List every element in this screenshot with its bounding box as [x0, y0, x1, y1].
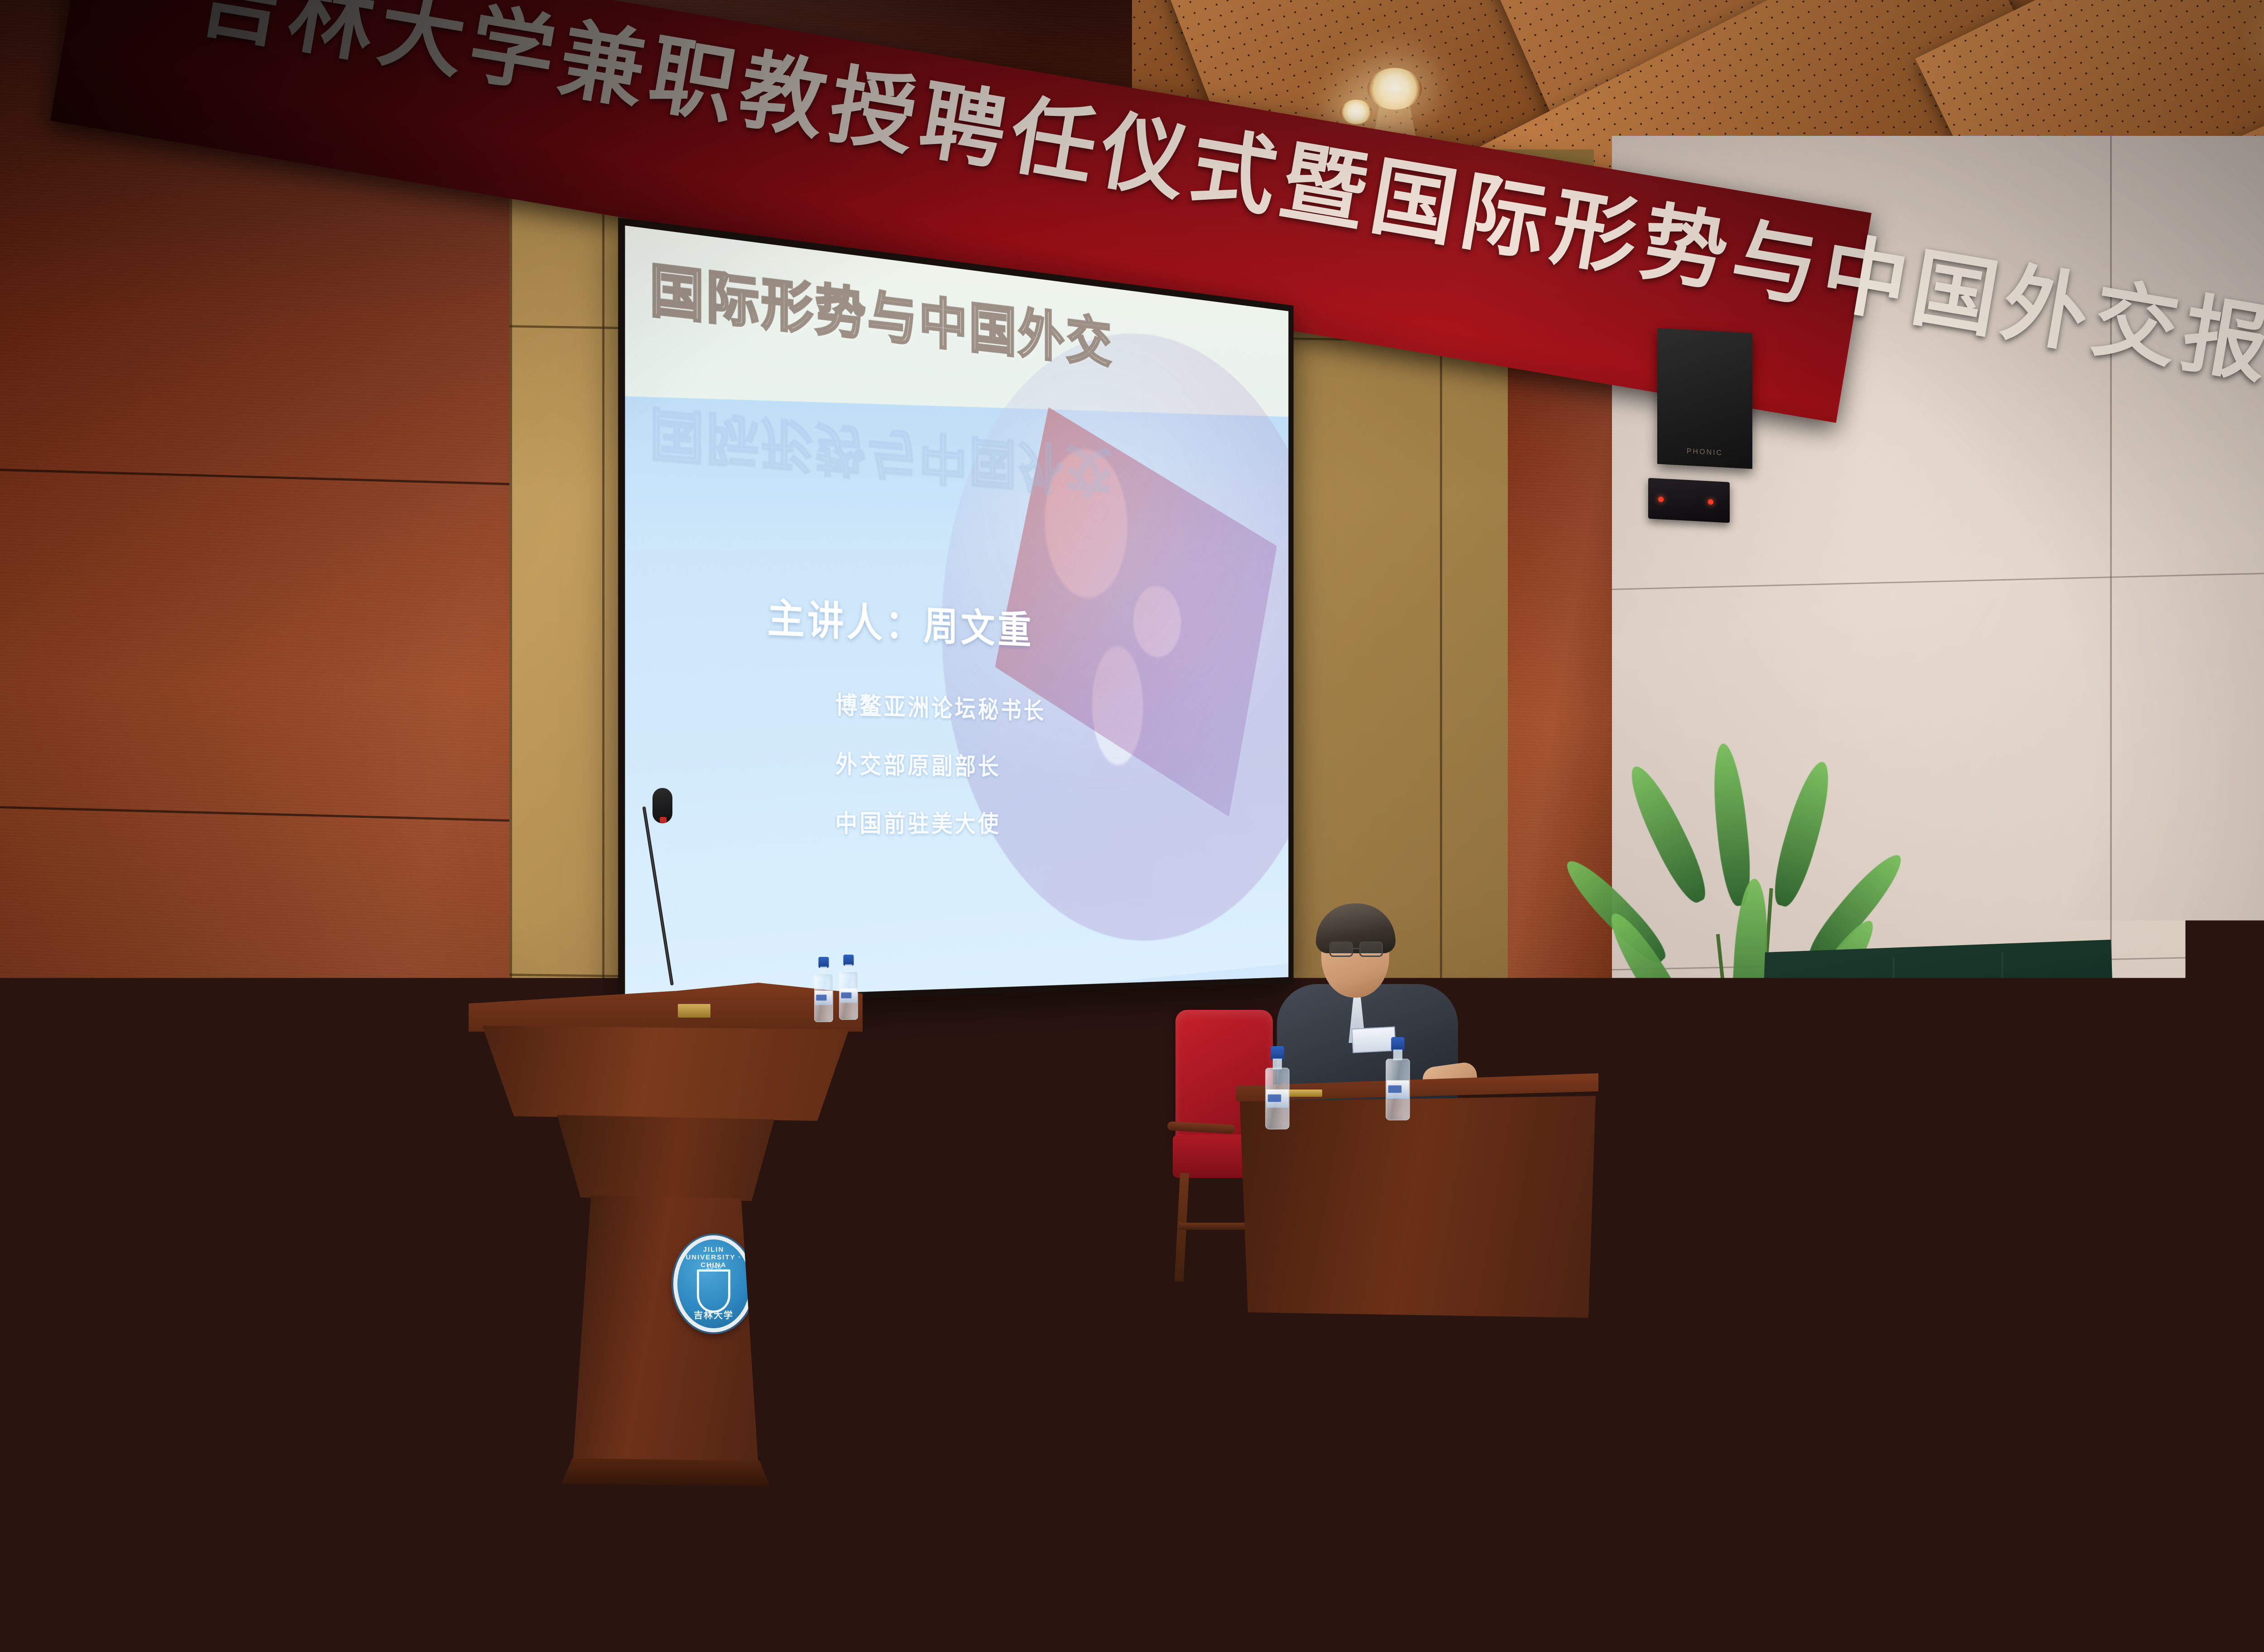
slide-speaker-role: 博鳌亚洲论坛秘书长 [835, 686, 1046, 726]
emblem-chinese-name: 吉林大学 [677, 1308, 750, 1321]
nameplate-logo: 吉林大学 [2203, 1524, 2221, 1534]
slide-speaker-role: 外交部原副部长 [835, 745, 1001, 782]
palm-frond [1708, 742, 1755, 908]
mic-indicator [660, 817, 667, 823]
table-front-panel [1240, 1096, 1596, 1318]
presentation-slide: 国际形势与中国外交 国际形势与中国外交 主讲人：周文重 博鳌亚洲论坛秘书长 外交… [625, 226, 1288, 1000]
mic-gooseneck [642, 806, 673, 985]
status-led [1658, 496, 1664, 502]
water-bottle[interactable] [1870, 1617, 1911, 1652]
palm-frond [1766, 758, 1838, 910]
bottle-label-accent [816, 995, 826, 1001]
ceiling-downlight [1367, 68, 1422, 110]
lectern-podium[interactable]: JILIN UNIVERSITY · CHINA 1946 吉林大学 [469, 983, 863, 1499]
nameplate-text: 周文重 [1294, 1042, 1366, 1076]
floor-outlet-cover [1749, 1432, 1805, 1444]
piano-caster [1784, 1219, 1799, 1234]
ceiling-downlight [1340, 100, 1372, 124]
bottle-label-accent [841, 993, 851, 999]
cover-fold [2001, 952, 2003, 1197]
slide-speaker-role: 中国前驻美大使 [835, 804, 1001, 839]
bottle-label-accent [1268, 1095, 1281, 1102]
bottle-body [1874, 1628, 1907, 1652]
bottle-label-accent [1388, 1085, 1401, 1093]
nameplate-logo: 吉林大学 [1290, 1032, 1317, 1042]
mic-gooseneck [1440, 1019, 1482, 1107]
bottle-cap [1391, 1037, 1404, 1051]
cover-fold [1893, 958, 1895, 1198]
jilin-university-emblem-icon: JILIN UNIVERSITY · CHINA 1946 吉林大学 [673, 1235, 754, 1332]
table-gooseneck-microphone[interactable] [1404, 1008, 1521, 1125]
emblem-crest-shape [697, 1269, 730, 1313]
floor-outlet-cover [1808, 1421, 1860, 1432]
mic-base [1472, 1097, 1530, 1119]
covered-piano [1757, 940, 2119, 1234]
podium-microphone[interactable] [646, 788, 700, 987]
speaker-nameplate: 吉林大学 周文重 [1284, 1025, 1377, 1082]
wall-loudspeaker: PHONIC [1657, 328, 1752, 469]
podium-neck [557, 1115, 774, 1201]
screen-frame: 国际形势与中国外交 国际形势与中国外交 主讲人：周文重 博鳌亚洲论坛秘书长 外交… [618, 217, 1294, 1008]
palm-frond [1621, 760, 1715, 908]
slide-title: 国际形势与中国外交 [650, 261, 1113, 372]
water-bottle[interactable] [814, 957, 833, 1022]
lecture-hall-photo: 吉林大学兼职教授聘任仪式暨国际形势与中国外交报告会 国际形势与中国外交 国际形势… [0, 0, 2264, 1652]
stage-step-riser [1838, 1248, 2074, 1302]
nameplate-text: 庄议宇 [2206, 1537, 2256, 1568]
podium-desktop [469, 983, 863, 1032]
piano-dust-cover [1757, 940, 2119, 1207]
projection-screen: 国际形势与中国外交 国际形势与中国外交 主讲人：周文重 博鳌亚洲论坛秘书长 外交… [618, 217, 1294, 1008]
speaker-brand-label: PHONIC [1657, 446, 1752, 459]
podium-base: JILIN UNIVERSITY · CHINA 1946 吉林大学 [573, 1196, 758, 1467]
water-bottle[interactable] [839, 955, 858, 1020]
water-bottle[interactable] [2255, 1470, 2264, 1583]
audience-nameplate: 吉林大学 庄议宇 [2199, 1514, 2262, 1573]
podium-foot [561, 1458, 770, 1486]
wall-av-receiver [1648, 478, 1730, 523]
table-brass-plate [1287, 1090, 1322, 1097]
hall-floor [1313, 1413, 2264, 1652]
bottle-cap [1271, 1046, 1284, 1060]
status-led [1708, 499, 1713, 505]
bottle-label-accent [2259, 1535, 2264, 1546]
podium-brass-plate [678, 1004, 710, 1018]
piano-caster [2074, 1201, 2089, 1216]
mic-capsule [1345, 974, 1372, 1017]
speaker-glasses [1329, 941, 1387, 957]
podium-body [482, 1026, 849, 1121]
